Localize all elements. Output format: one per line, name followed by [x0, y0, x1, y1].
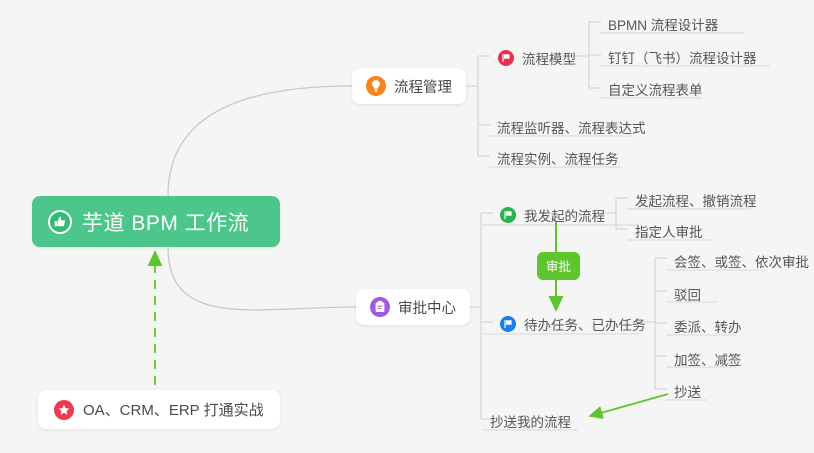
leaf-label: BPMN 流程设计器 [608, 18, 718, 33]
bottom-card-integration[interactable]: OA、CRM、ERP 打通实战 [38, 390, 280, 429]
leaf-label: 流程监听器、流程表达式 [497, 121, 646, 136]
branch-node-label: 审批中心 [398, 297, 456, 318]
leaf-label: 自定义流程表单 [608, 83, 703, 98]
branch-node-process-management[interactable]: 流程管理 [352, 68, 466, 104]
leaf-carbon-copy[interactable]: 抄送 [666, 377, 709, 406]
leaf-label: 加签、减签 [674, 353, 742, 368]
leaf-label: 驳回 [674, 288, 701, 303]
flag-icon [498, 50, 514, 66]
leaf-label: 待办任务、已办任务 [524, 314, 646, 334]
leaf-reject[interactable]: 驳回 [666, 280, 709, 309]
leaf-label: 委派、转办 [674, 320, 742, 335]
approval-annotation-label: 审批 [546, 260, 571, 274]
leaf-label: 流程实例、流程任务 [497, 152, 619, 167]
mindmap-canvas: 芋道 BPM 工作流 流程管理 审批中心 [0, 0, 814, 453]
leaf-label: 钉钉（飞书）流程设计器 [608, 51, 757, 66]
branch-node-label: 流程管理 [394, 76, 452, 97]
flag-icon [500, 207, 516, 223]
root-node[interactable]: 芋道 BPM 工作流 [32, 196, 280, 247]
leaf-label: 抄送我的流程 [490, 415, 571, 430]
leaf-my-initiated-process[interactable]: 我发起的流程 [492, 201, 613, 230]
leaf-assignee-approval[interactable]: 指定人审批 [627, 217, 711, 246]
leaf-dingtalk-designer[interactable]: 钉钉（飞书）流程设计器 [600, 43, 765, 72]
leaf-custom-form[interactable]: 自定义流程表单 [600, 75, 711, 104]
leaf-process-model[interactable]: 流程模型 [490, 44, 584, 73]
clipboard-icon [370, 297, 390, 317]
leaf-cc-to-me-process[interactable]: 抄送我的流程 [482, 407, 579, 436]
leaf-countersign[interactable]: 会签、或签、依次审批 [666, 247, 814, 276]
leaf-label: 会签、或签、依次审批 [674, 255, 809, 270]
leaf-label: 流程模型 [522, 48, 576, 68]
leaf-start-cancel-process[interactable]: 发起流程、撤销流程 [627, 186, 765, 215]
leaf-add-remove-sign[interactable]: 加签、减签 [666, 345, 750, 374]
leaf-delegate-transfer[interactable]: 委派、转办 [666, 312, 750, 341]
approval-annotation-badge: 审批 [537, 252, 580, 280]
leaf-label: 指定人审批 [635, 225, 703, 240]
flag-icon [500, 316, 516, 332]
bottom-card-label: OA、CRM、ERP 打通实战 [83, 399, 264, 420]
star-icon [54, 400, 74, 420]
thumbs-up-icon [48, 210, 72, 234]
lightbulb-icon [366, 76, 386, 96]
leaf-todo-done-tasks[interactable]: 待办任务、已办任务 [492, 310, 654, 339]
leaf-bpmn-designer[interactable]: BPMN 流程设计器 [600, 10, 726, 39]
leaf-label: 发起流程、撤销流程 [635, 194, 757, 209]
root-node-label: 芋道 BPM 工作流 [82, 207, 249, 237]
leaf-label: 我发起的流程 [524, 205, 605, 225]
leaf-process-instance[interactable]: 流程实例、流程任务 [489, 144, 627, 173]
branch-node-approval-center[interactable]: 审批中心 [356, 289, 470, 325]
leaf-label: 抄送 [674, 385, 701, 400]
leaf-process-listener[interactable]: 流程监听器、流程表达式 [489, 113, 654, 142]
